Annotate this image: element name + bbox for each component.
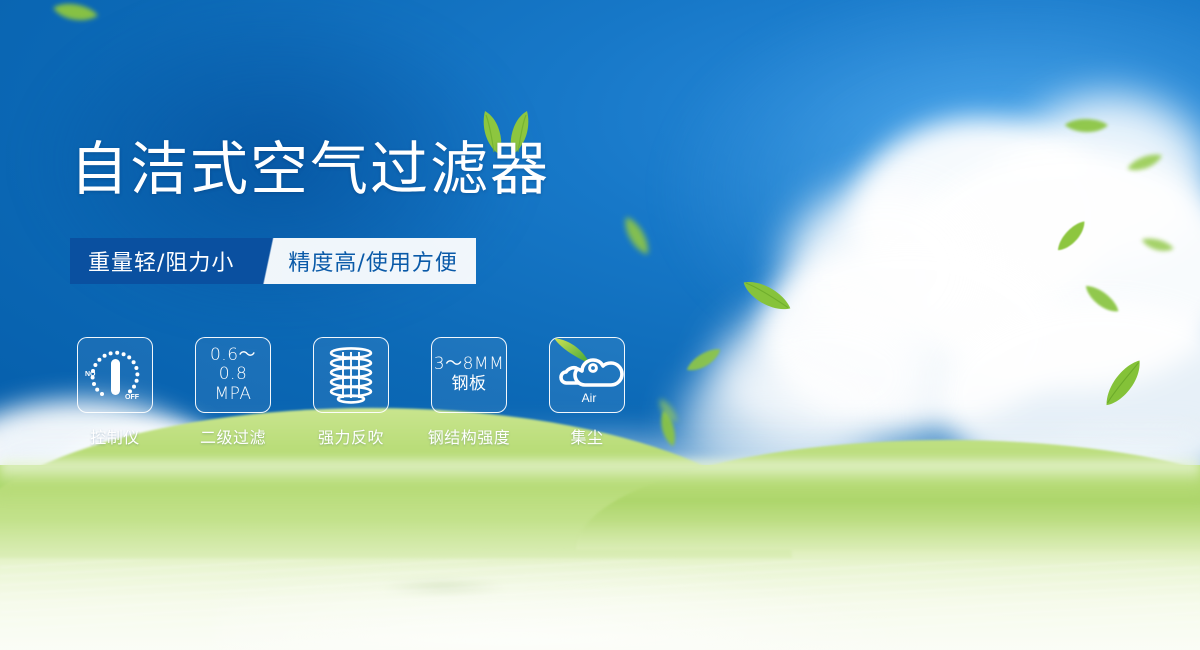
- steel-plate-text-icon: 3～8MM 钢板: [434, 355, 504, 394]
- air-cloud-icon: Air: [552, 338, 625, 412]
- feature-item[interactable]: NO OFF 控制仪: [70, 337, 160, 448]
- feature-icon-box[interactable]: Air: [549, 337, 625, 413]
- subtitle-right: 精度高/使用方便: [282, 238, 475, 284]
- feature-icon-box[interactable]: NO OFF: [77, 337, 153, 413]
- feature-item[interactable]: Air 集尘: [542, 337, 632, 448]
- air-label: Air: [582, 391, 597, 405]
- gauge-dial-icon: NO OFF: [81, 344, 149, 406]
- feature-item[interactable]: 强力反吹: [306, 337, 396, 448]
- feature-icon-box[interactable]: 3～8MM 钢板: [431, 337, 507, 413]
- svg-text:NO: NO: [85, 371, 96, 378]
- banner-content: 自洁式空气过滤器 重量轻/阻力小 精度高/使用方便: [0, 0, 1200, 650]
- feature-label: 二级过滤: [200, 424, 266, 448]
- feature-label: 钢结构强度: [428, 424, 511, 448]
- feature-label: 集尘: [570, 424, 603, 448]
- pressure-unit: MPA: [196, 385, 270, 405]
- svg-text:OFF: OFF: [125, 394, 140, 401]
- feature-item[interactable]: 0.6～0.8 MPA 二级过滤: [188, 337, 278, 448]
- feature-icon-box[interactable]: 0.6～0.8 MPA: [195, 337, 271, 413]
- feature-icon-list: NO OFF 控制仪 0.6～0.8 MPA 二级过滤: [70, 337, 632, 448]
- pressure-text-icon: 0.6～0.8 MPA: [196, 346, 270, 405]
- subtitle-left: 重量轻/阻力小: [70, 238, 256, 284]
- feature-label: 强力反吹: [318, 424, 384, 448]
- filter-coil-icon: [322, 344, 380, 406]
- pressure-range: 0.6～0.8: [196, 346, 270, 385]
- feature-label: 控制仪: [90, 424, 140, 448]
- feature-icon-box[interactable]: [313, 337, 389, 413]
- page-title: 自洁式空气过滤器: [70, 140, 550, 198]
- product-hero-banner: 自洁式空气过滤器 重量轻/阻力小 精度高/使用方便: [0, 0, 1200, 650]
- steel-thickness: 3～8MM: [434, 355, 504, 375]
- feature-item[interactable]: 3～8MM 钢板 钢结构强度: [424, 337, 514, 448]
- steel-material: 钢板: [434, 375, 504, 395]
- subtitle-bar: 重量轻/阻力小 精度高/使用方便: [70, 238, 476, 284]
- subtitle-diagonal-separator: [256, 238, 282, 284]
